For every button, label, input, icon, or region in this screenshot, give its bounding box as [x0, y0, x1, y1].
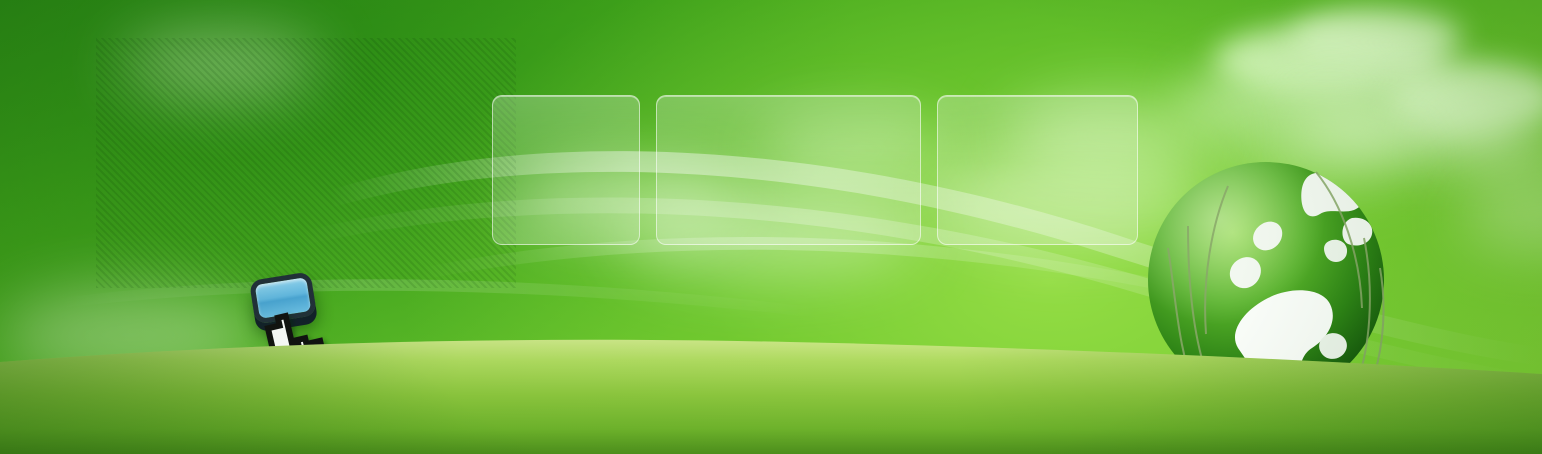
eco-hero-banner	[0, 0, 1542, 454]
vignette-overlay	[0, 0, 1542, 454]
